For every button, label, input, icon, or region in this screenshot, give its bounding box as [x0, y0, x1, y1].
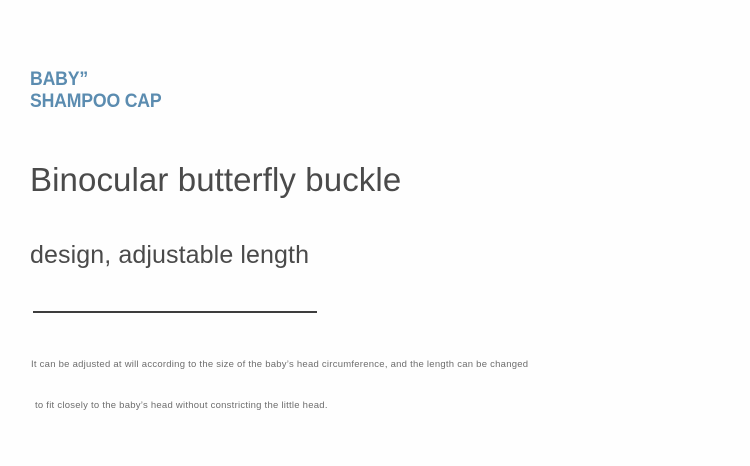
brand-name-primary: BABY”: [30, 70, 161, 89]
headline-secondary: design, adjustable length: [30, 241, 309, 270]
brand-name-baby-text: BABY: [30, 69, 79, 90]
promo-banner-canvas: BABY” SHAMPOO CAP Binocular butterfly bu…: [0, 0, 750, 466]
description-block: It can be adjusted at will according to …: [31, 360, 721, 410]
description-line-1: It can be adjusted at will according to …: [31, 360, 721, 370]
brand-quote-mark: ”: [79, 69, 87, 90]
brand-lockup: BABY” SHAMPOO CAP: [30, 70, 171, 111]
section-divider: [33, 311, 317, 313]
description-line-2: to fit closely to the baby’s head withou…: [35, 401, 721, 411]
headline-primary: Binocular butterfly buckle: [30, 161, 401, 199]
brand-name-secondary: SHAMPOO CAP: [30, 92, 161, 111]
